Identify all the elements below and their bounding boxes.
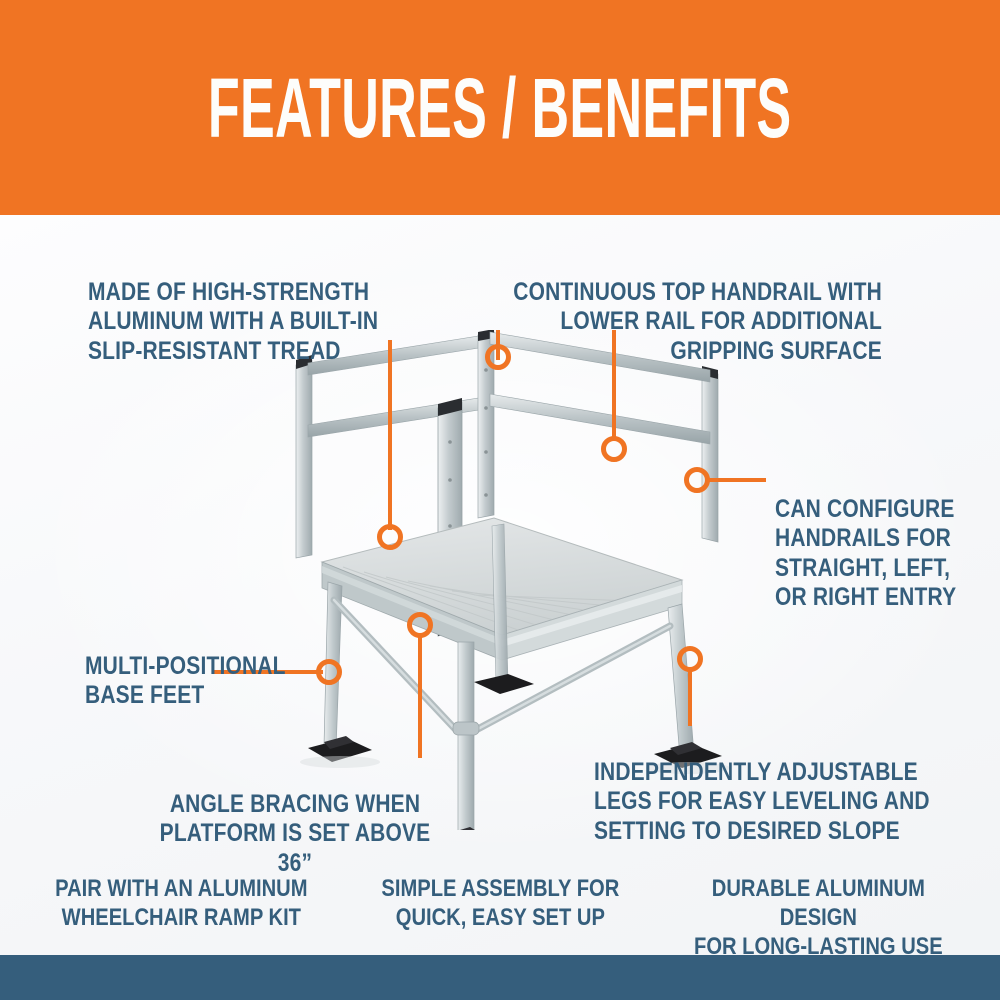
callout-base-feet: MULTI-POSITIONAL BASE FEET — [85, 622, 324, 711]
connector-line-tread — [388, 340, 392, 530]
ring-marker-configure — [684, 467, 710, 493]
callout-handrail: CONTINUOUS TOP HANDRAIL WITH LOWER RAIL … — [443, 248, 882, 366]
ring-marker-tread — [377, 524, 403, 550]
callout-angle-bracing: ANGLE BRACING WHEN PLATFORM IS SET ABOVE… — [130, 760, 460, 878]
callout-adjustable-legs: INDEPENDENTLY ADJUSTABLE LEGS FOR EASY L… — [594, 728, 994, 846]
header-banner: FEATURES / BENEFITS — [0, 0, 1000, 215]
bottom-item-durable: DURABLE ALUMINUM DESIGN FOR LONG-LASTING… — [685, 875, 953, 961]
callout-base-feet-label: MULTI-POSITIONAL BASE FEET — [85, 652, 286, 711]
callout-tread: MADE OF HIGH-STRENGTH ALUMINUM WITH A BU… — [88, 248, 433, 366]
ring-marker-handrail-lower — [601, 436, 627, 462]
bottom-benefit-row: PAIR WITH AN ALUMINUM WHEELCHAIR RAMP KI… — [0, 875, 1000, 950]
connector-line-adjustable-legs — [688, 668, 692, 726]
bottom-item-ramp-kit: PAIR WITH AN ALUMINUM WHEELCHAIR RAMP KI… — [47, 875, 315, 933]
callout-tread-label: MADE OF HIGH-STRENGTH ALUMINUM WITH A BU… — [88, 278, 378, 367]
page-title: FEATURES / BENEFITS — [208, 66, 792, 150]
callout-configure: CAN CONFIGURE HANDRAILS FOR STRAIGHT, LE… — [775, 465, 991, 613]
callout-adjustable-legs-label: INDEPENDENTLY ADJUSTABLE LEGS FOR EASY L… — [594, 758, 930, 847]
connector-line-configure — [706, 478, 766, 482]
bottom-item-assembly: SIMPLE ASSEMBLY FOR QUICK, EASY SET UP — [366, 875, 634, 933]
callout-configure-label: CAN CONFIGURE HANDRAILS FOR STRAIGHT, LE… — [775, 495, 956, 613]
callout-angle-bracing-label: ANGLE BRACING WHEN PLATFORM IS SET ABOVE… — [156, 790, 433, 879]
infographic-root: FEATURES / BENEFITS — [0, 0, 1000, 1000]
callout-handrail-label: CONTINUOUS TOP HANDRAIL WITH LOWER RAIL … — [513, 278, 882, 367]
connector-line-angle-bracing — [418, 636, 422, 758]
ring-marker-adjustable-legs — [677, 646, 703, 672]
footer-bar — [0, 955, 1000, 1000]
ring-marker-angle-bracing — [407, 612, 433, 638]
